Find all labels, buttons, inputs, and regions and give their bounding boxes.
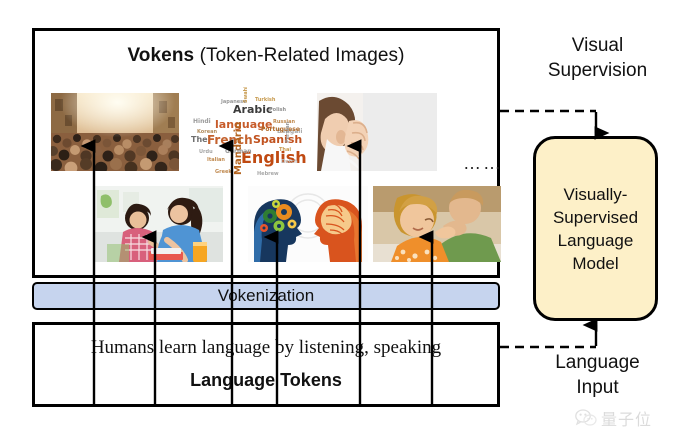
model-line-3: Language	[553, 229, 638, 252]
language-input-label: Language Input	[520, 350, 675, 400]
vokens-panel: Vokens (Token-Related Images)	[32, 28, 500, 278]
vokens-panel-title: Vokens (Token-Related Images)	[35, 45, 497, 67]
svg-text:The: The	[191, 135, 208, 144]
model-line-1: Visually-	[553, 183, 638, 206]
svg-text:Thai: Thai	[279, 147, 291, 153]
crowd-of-people-photo	[51, 93, 179, 171]
vokens-ellipsis: ……	[463, 153, 503, 174]
svg-text:Turkish: Turkish	[255, 97, 276, 103]
svg-text:Korean: Korean	[197, 129, 217, 135]
svg-text:French: French	[207, 133, 253, 147]
watermark: 量子位	[575, 406, 652, 430]
svg-text:Hebrew: Hebrew	[257, 171, 279, 177]
watermark-text: 量子位	[601, 406, 652, 430]
language-input-line-1: Language	[520, 350, 675, 375]
vokenization-bar: Vokenization	[32, 282, 500, 310]
visual-supervision-line-2: Supervision	[520, 58, 675, 83]
language-tokens-label: Language Tokens	[35, 370, 497, 391]
svg-text:Dutch: Dutch	[281, 159, 298, 165]
svg-text:Hindi: Hindi	[193, 118, 211, 125]
language-tokens-panel: Humans learn language by listening, spea…	[32, 322, 500, 407]
language-word-cloud-image: Arabic language The French Spanish Engli…	[185, 87, 309, 179]
children-talking-photo	[373, 186, 501, 262]
language-input-line-2: Input	[520, 375, 675, 400]
model-box-text: Visually- Supervised Language Model	[553, 183, 638, 275]
svg-text:Persian: Persian	[285, 121, 291, 143]
svg-text:Polish: Polish	[269, 107, 287, 113]
figure-canvas: Vokens (Token-Related Images)	[0, 0, 700, 445]
svg-text:Urdu: Urdu	[199, 149, 213, 155]
vokenization-label: Vokenization	[218, 286, 314, 306]
svg-text:Portuguese: Portuguese	[261, 126, 300, 133]
woman-listening-photo	[317, 93, 437, 171]
model-line-2: Supervised	[553, 206, 638, 229]
visual-supervision-label: Visual Supervision	[520, 33, 675, 83]
vokens-title-rest: (Token-Related Images)	[194, 45, 404, 66]
visual-supervision-line-1: Visual	[520, 33, 675, 58]
input-sentence: Humans learn language by listening, spea…	[35, 337, 497, 359]
model-line-4: Model	[553, 252, 638, 275]
svg-text:German: German	[225, 148, 252, 155]
visually-supervised-language-model-box: Visually- Supervised Language Model	[533, 136, 658, 321]
svg-text:Italian: Italian	[207, 157, 225, 163]
vokens-title-bold: Vokens	[127, 45, 194, 66]
svg-text:Swahili: Swahili	[243, 87, 249, 103]
svg-text:Greek: Greek	[215, 169, 232, 175]
wechat-icon	[575, 409, 597, 427]
mother-teaching-child-photo	[93, 186, 223, 262]
two-heads-brain-gears-illustration	[248, 186, 368, 262]
